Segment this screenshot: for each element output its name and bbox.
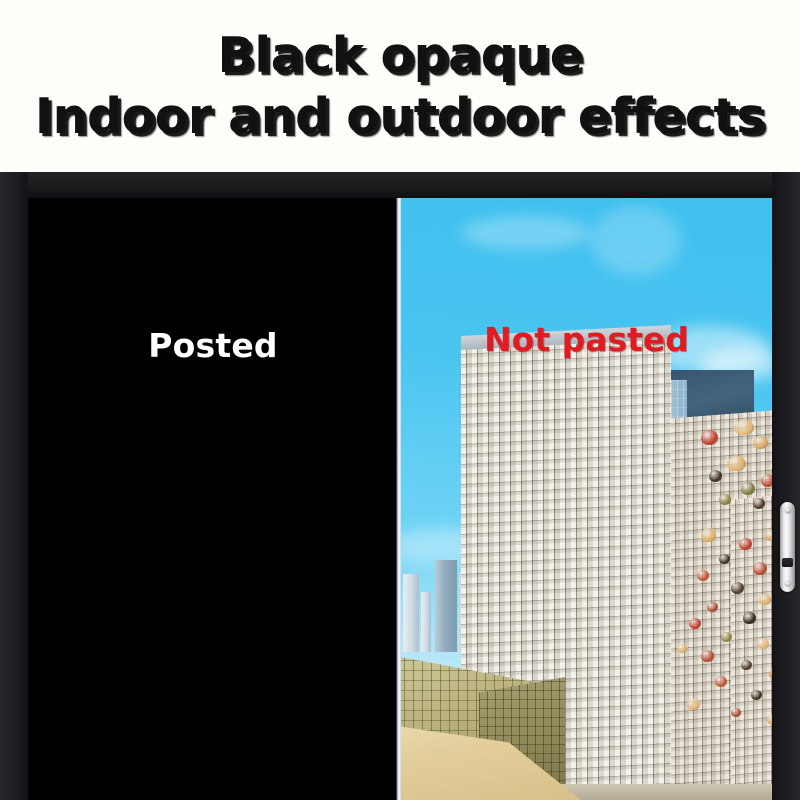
window-latch-handle[interactable]	[780, 502, 795, 592]
handle-screw-top-icon	[784, 507, 791, 514]
balloon	[719, 554, 730, 564]
pane-not-pasted-clear: Not pasted	[401, 198, 772, 800]
balloon	[701, 430, 718, 445]
balloon	[767, 714, 772, 725]
pane-label-posted: Posted	[28, 326, 398, 365]
balloon	[753, 436, 768, 449]
balloon	[741, 482, 755, 495]
title-line-2: Indoor and outdoor effects	[35, 92, 765, 141]
balloon	[743, 612, 756, 624]
plaza-strip	[551, 784, 772, 800]
city-skyline	[401, 198, 772, 800]
window-photo: Posted	[0, 172, 800, 800]
distant-tower	[435, 560, 457, 652]
balloon	[765, 530, 772, 541]
balloon	[741, 660, 752, 670]
balloon	[751, 690, 762, 700]
balloon	[753, 498, 765, 509]
balloon	[739, 538, 752, 550]
balloon	[715, 676, 727, 687]
balloon	[697, 570, 709, 581]
balloon	[759, 594, 771, 605]
balloon	[701, 528, 716, 542]
balloon	[707, 602, 718, 612]
pane-label-not-pasted: Not pasted	[401, 320, 772, 359]
balloon	[701, 650, 714, 662]
handle-notch	[782, 558, 793, 567]
balloon	[709, 470, 722, 482]
window-frame-top-rail	[0, 172, 800, 198]
window-frame-left-stile	[0, 172, 28, 800]
balloon	[687, 698, 700, 710]
balloon	[721, 632, 732, 642]
window-glass-area: Posted	[28, 198, 772, 800]
pane-posted-blackout: Posted	[28, 198, 398, 800]
balloon	[677, 644, 687, 653]
window-frame-right-stile	[772, 172, 800, 800]
balloon	[734, 420, 754, 435]
header-banner: Black opaque Indoor and outdoor effects	[0, 0, 800, 172]
balloon	[731, 708, 741, 717]
screenshot-root: Black opaque Indoor and outdoor effects …	[0, 0, 800, 800]
handle-screw-bottom-icon	[784, 580, 791, 587]
distant-tower	[403, 574, 419, 652]
balloon	[689, 618, 701, 629]
balloon	[761, 474, 772, 487]
balloon	[719, 494, 731, 505]
distant-tower	[421, 592, 431, 652]
title-line-1: Black opaque	[218, 31, 583, 80]
balloon	[757, 638, 769, 649]
balloon	[727, 456, 746, 471]
balloon	[731, 582, 744, 594]
balloon	[753, 562, 767, 575]
